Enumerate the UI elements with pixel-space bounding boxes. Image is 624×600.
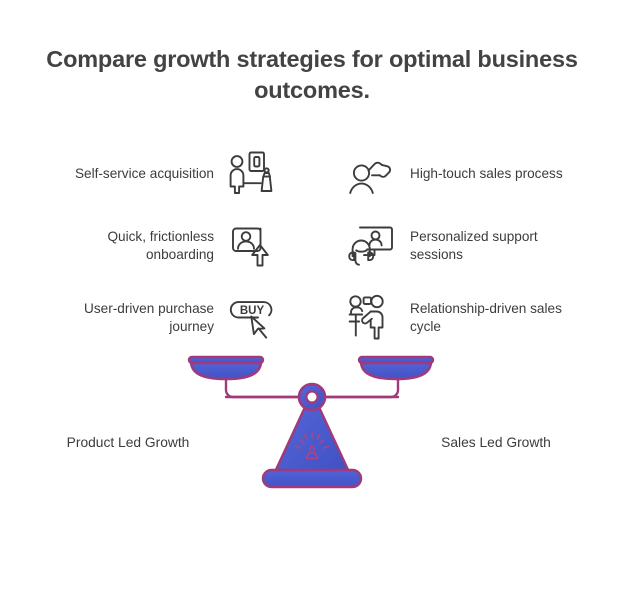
user-card-upload-icon bbox=[226, 220, 278, 272]
feature-item-onboarding: Quick, frictionless onboarding bbox=[28, 210, 278, 282]
feature-label: Personalized support sessions bbox=[410, 228, 582, 265]
self-service-kiosk-icon bbox=[226, 148, 278, 200]
person-handshake-icon bbox=[346, 148, 398, 200]
feature-item-relationship: Relationship-driven sales cycle bbox=[346, 282, 596, 354]
buy-button-cursor-icon: BUY bbox=[226, 292, 278, 344]
feature-item-self-service: Self-service acquisition bbox=[28, 138, 278, 210]
feature-label: User-driven purchase journey bbox=[42, 300, 214, 337]
slide-canvas: Compare growth strategies for optimal bu… bbox=[0, 0, 624, 600]
feature-item-purchase-journey: User-driven purchase journey BUY bbox=[28, 282, 278, 354]
right-column-heading: Sales Led Growth bbox=[368, 435, 624, 450]
product-led-growth-pan bbox=[189, 357, 263, 379]
feature-label: High-touch sales process bbox=[410, 165, 563, 183]
feature-label: Relationship-driven sales cycle bbox=[410, 300, 582, 337]
scale-pivot bbox=[299, 384, 325, 410]
sales-led-growth-pan bbox=[359, 357, 433, 379]
balance-scale-graphic bbox=[180, 348, 444, 498]
svg-text:BUY: BUY bbox=[240, 305, 265, 317]
left-feature-column: Self-service acquisition Quick, friction… bbox=[28, 138, 278, 354]
people-meeting-icon bbox=[346, 292, 398, 344]
feature-label: Self-service acquisition bbox=[75, 165, 214, 183]
page-title: Compare growth strategies for optimal bu… bbox=[30, 44, 594, 107]
scale-base bbox=[263, 470, 361, 487]
left-column-heading: Product Led Growth bbox=[0, 435, 256, 450]
feature-label: Quick, frictionless onboarding bbox=[42, 228, 214, 265]
feature-item-support-sessions: Personalized support sessions bbox=[346, 210, 596, 282]
feature-item-high-touch: High-touch sales process bbox=[346, 138, 596, 210]
monitor-headset-agent-icon bbox=[346, 220, 398, 272]
right-feature-column: High-touch sales process Personalized su… bbox=[346, 138, 596, 354]
